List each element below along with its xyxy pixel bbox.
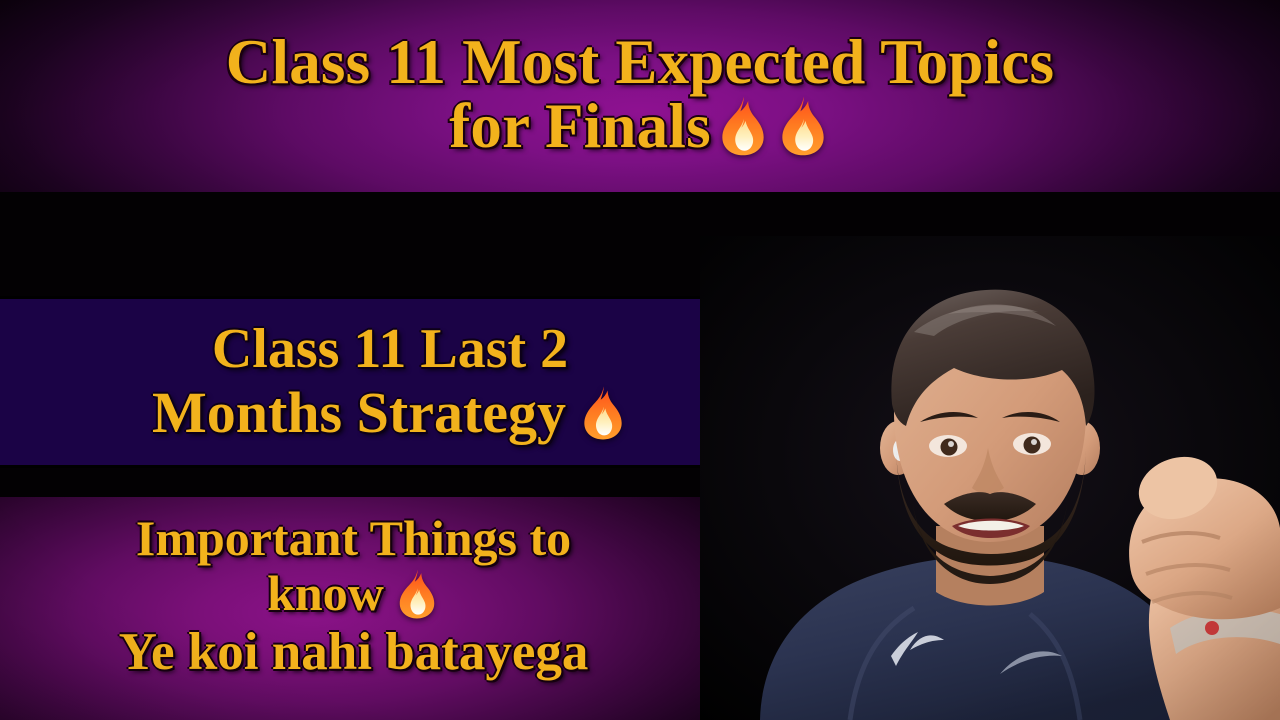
youtube-thumbnail: Class 11 Most Expected Topics for Finals — [0, 0, 1280, 720]
headline-banner: Class 11 Most Expected Topics for Finals — [0, 0, 1280, 192]
strategy-line-2: Months Strategy — [152, 381, 566, 446]
important-line-2: know — [267, 566, 384, 621]
wristband-bead — [1205, 621, 1219, 635]
fire-icon — [578, 385, 628, 441]
presenter-illustration — [700, 236, 1280, 720]
iris-left — [941, 439, 958, 456]
fire-icon — [715, 95, 771, 157]
strategy-line-1: Class 11 Last 2 — [212, 318, 568, 381]
eye-glint — [948, 441, 954, 447]
headline-line-1: Class 11 Most Expected Topics — [226, 30, 1054, 94]
fire-icon — [775, 95, 831, 157]
important-line-2-row: know — [267, 566, 440, 621]
strategy-line-2-row: Months Strategy — [152, 381, 628, 446]
headline-line-2: for Finals — [449, 94, 711, 158]
fire-icon — [394, 568, 440, 620]
eye-glint — [1031, 439, 1037, 445]
important-line-1: Important Things to — [136, 511, 571, 566]
strategy-banner: Class 11 Last 2 Months Strategy — [0, 296, 780, 468]
headline-line-2-row: for Finals — [449, 94, 831, 158]
important-things-banner: Important Things to know Ye koi nahi bat… — [0, 497, 707, 720]
presenter-photo — [700, 236, 1280, 720]
iris-right — [1024, 437, 1041, 454]
important-line-3: Ye koi nahi batayega — [119, 623, 589, 681]
